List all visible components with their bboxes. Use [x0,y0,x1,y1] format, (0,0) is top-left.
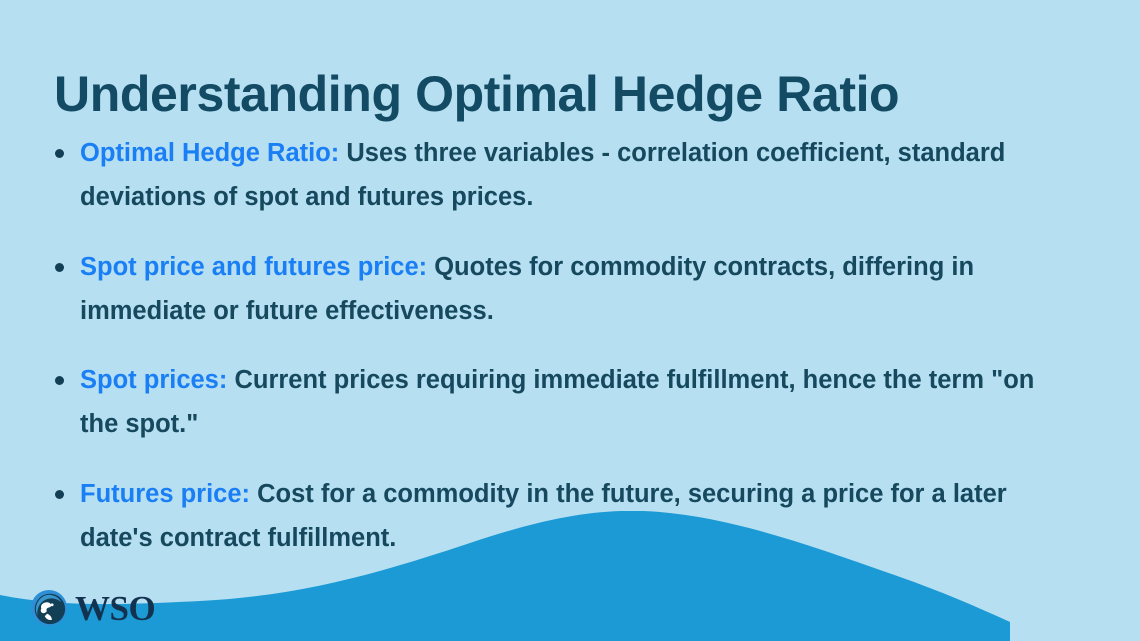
list-item: Spot price and futures price: Quotes for… [50,246,1060,334]
bullet-marker-icon [55,376,64,385]
bullet-term: Futures price: [80,480,250,508]
slide-canvas: Understanding Optimal Hedge Ratio Optima… [0,0,1140,641]
bullet-term: Spot prices: [80,366,227,394]
bullet-list: Optimal Hedge Ratio: Uses three variable… [50,132,1060,561]
brand-logo-wordmark: WSO [75,591,155,626]
bullet-term: Spot price and futures price: [80,253,427,281]
bullet-marker-icon [55,263,64,272]
brand-logo: WSO [30,589,155,627]
page-title: Understanding Optimal Hedge Ratio [54,66,899,122]
bullet-marker-icon [55,149,64,158]
list-item: Futures price: Cost for a commodity in t… [50,473,1060,561]
list-item: Spot prices: Current prices requiring im… [50,359,1060,447]
bullet-term: Optimal Hedge Ratio: [80,139,339,167]
bullet-marker-icon [55,490,64,499]
list-item: Optimal Hedge Ratio: Uses three variable… [50,132,1060,220]
wso-globe-icon [30,589,68,627]
